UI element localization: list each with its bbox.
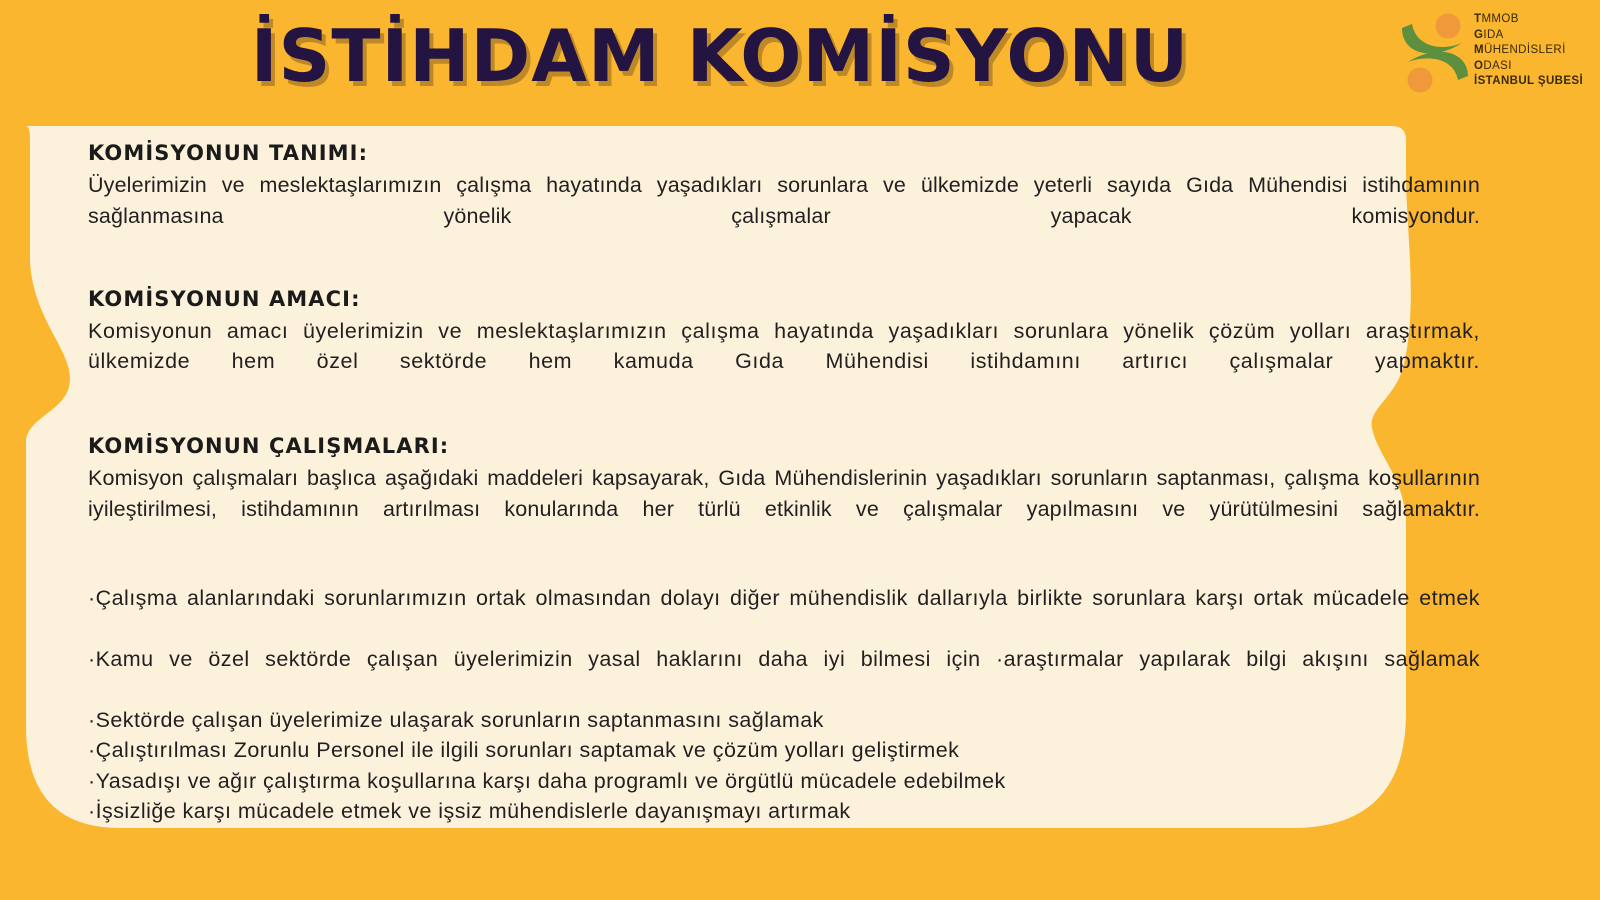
logo-line-gida: GIDA — [1474, 28, 1582, 44]
section-amaci-heading: KOMİSYONUN AMACI: — [88, 284, 1480, 314]
section-tanimi-body: Üyelerimizin ve meslektaşlarımızın çalış… — [88, 170, 1480, 262]
logo-mark-icon — [1398, 10, 1474, 94]
logo-line-muhendisleri: MÜHENDİSLERİ — [1474, 43, 1582, 59]
list-item: ·İşsizliğe karşı mücadele etmek ve işsiz… — [88, 796, 1480, 827]
content-card: KOMİSYONUN TANIMI: Üyelerimizin ve mesle… — [0, 112, 1600, 872]
poster-slide: İSTİHDAM KOMİSYONU TMMOB GIDA MÜHENDİSLE… — [0, 0, 1600, 900]
list-item: ·Yasadışı ve ağır çalıştırma koşullarına… — [88, 766, 1480, 797]
page-title: İSTİHDAM KOMİSYONU — [0, 14, 1440, 98]
activities-list: ·Çalışma alanlarındaki sorunlarımızın or… — [88, 583, 1480, 827]
logo-circle-top-icon — [1436, 14, 1461, 39]
section-amaci: KOMİSYONUN AMACI: Komisyonun amacı üyele… — [88, 284, 1480, 408]
section-amaci-body: Komisyonun amacı üyelerimizin ve meslekt… — [88, 316, 1480, 408]
organization-logo: TMMOB GIDA MÜHENDİSLERİ ODASI İSTANBUL Ş… — [1392, 6, 1582, 98]
card-body: KOMİSYONUN TANIMI: Üyelerimizin ve mesle… — [88, 138, 1480, 827]
list-item: ·Sektörde çalışan üyelerimize ulaşarak s… — [88, 705, 1480, 736]
logo-line-odasi: ODASI — [1474, 59, 1582, 75]
section-tanimi-heading: KOMİSYONUN TANIMI: — [88, 138, 1480, 168]
section-calismalari-heading: KOMİSYONUN ÇALIŞMALARI: — [88, 431, 1480, 461]
list-item: ·Kamu ve özel sektörde çalışan üyelerimi… — [88, 644, 1480, 705]
section-calismalari: KOMİSYONUN ÇALIŞMALARI: Komisyon çalışma… — [88, 431, 1480, 555]
section-calismalari-body: Komisyon çalışmaları başlıca aşağıdaki m… — [88, 463, 1480, 555]
logo-circle-bottom-icon — [1408, 68, 1433, 93]
list-item: ·Çalışma alanlarındaki sorunlarımızın or… — [88, 583, 1480, 644]
section-tanimi: KOMİSYONUN TANIMI: Üyelerimizin ve mesle… — [88, 138, 1480, 262]
poster-header: İSTİHDAM KOMİSYONU TMMOB GIDA MÜHENDİSLE… — [0, 0, 1600, 120]
logo-text-block: TMMOB GIDA MÜHENDİSLERİ ODASI İSTANBUL Ş… — [1474, 12, 1582, 90]
logo-line-tmmob: TMMOB — [1474, 12, 1582, 28]
list-item: ·Çalıştırılması Zorunlu Personel ile ilg… — [88, 735, 1480, 766]
logo-line-istanbul-subesi: İSTANBUL ŞUBESİ — [1474, 74, 1582, 90]
